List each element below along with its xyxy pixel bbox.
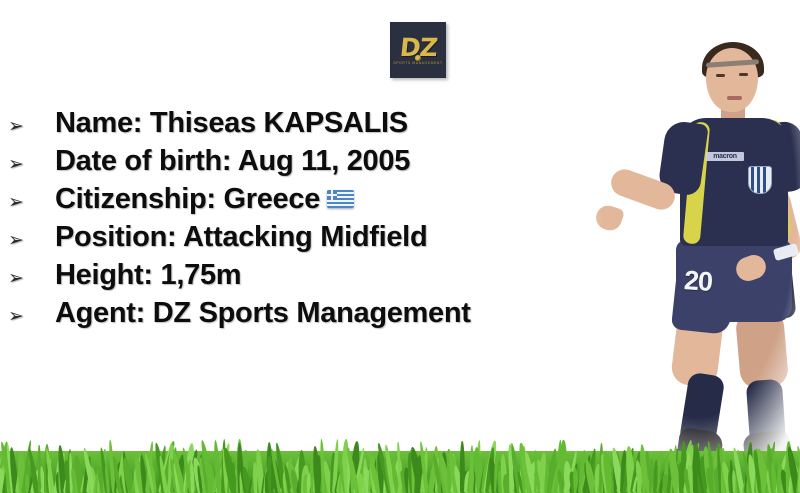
club-crest-icon (748, 166, 772, 194)
arrow-bullet-icon: ➢ (0, 259, 55, 297)
kit-brand-logo: macron (706, 152, 744, 161)
player-profile-list: ➢ Name: Thiseas KAPSALIS ➢ Date of birth… (0, 104, 620, 332)
slide-canvas: DZ SPORTS MANAGEMENT ➢ Name: Thiseas KAP… (0, 0, 800, 493)
list-item: ➢ Name: Thiseas KAPSALIS (0, 104, 620, 142)
profile-position: Position: Attacking Midfield (55, 218, 427, 256)
arrow-bullet-icon: ➢ (0, 297, 55, 335)
grass-strip (0, 433, 800, 493)
profile-date-of-birth: Date of birth: Aug 11, 2005 (55, 142, 410, 180)
list-item: ➢ Agent: DZ Sports Management (0, 294, 620, 332)
list-item: ➢ Position: Attacking Midfield (0, 218, 620, 256)
profile-citizenship: Citizenship: Greece (55, 180, 320, 218)
list-item: ➢ Date of birth: Aug 11, 2005 (0, 142, 620, 180)
profile-name: Name: Thiseas KAPSALIS (55, 104, 408, 142)
arrow-bullet-icon: ➢ (0, 221, 55, 259)
player-mouth (727, 96, 742, 100)
football-player-photo: 20 macron (588, 18, 800, 476)
dz-sports-management-logo: DZ SPORTS MANAGEMENT (390, 22, 446, 78)
profile-height: Height: 1,75m (55, 256, 241, 294)
player-right-eye (739, 73, 748, 76)
list-item: ➢ Citizenship: Greece (0, 180, 620, 218)
arrow-bullet-icon: ➢ (0, 145, 55, 183)
profile-agent: Agent: DZ Sports Management (55, 294, 471, 332)
arrow-bullet-icon: ➢ (0, 107, 55, 145)
football-icon (415, 55, 421, 61)
logo-subtitle: SPORTS MANAGEMENT (393, 62, 442, 65)
player-left-eye (716, 74, 725, 77)
player-head (706, 48, 758, 112)
player-left-hand (593, 203, 625, 234)
list-item: ➢ Height: 1,75m (0, 256, 620, 294)
arrow-bullet-icon: ➢ (0, 183, 55, 221)
greece-flag-icon (327, 190, 354, 208)
shirt-number: 20 (683, 265, 713, 298)
